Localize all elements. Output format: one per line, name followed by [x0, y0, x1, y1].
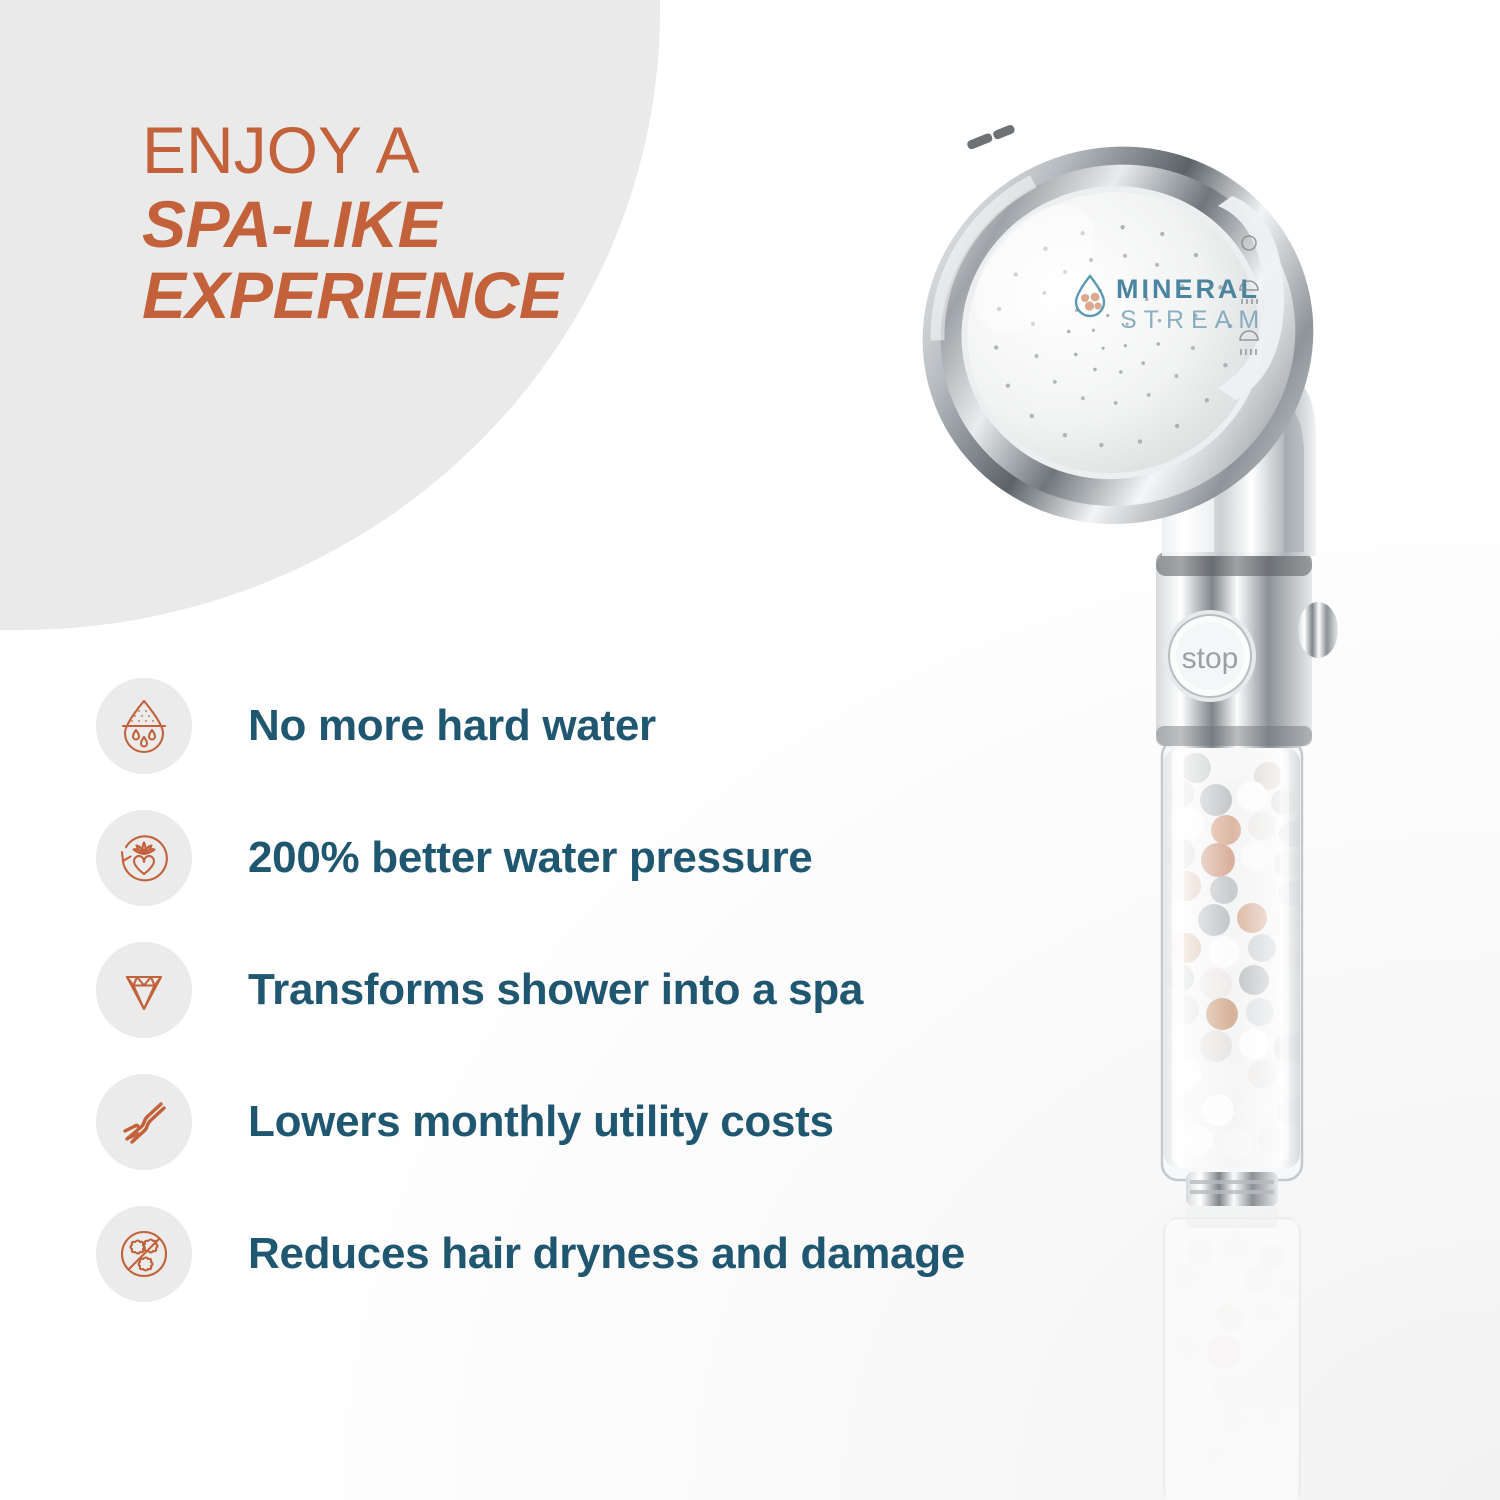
poster-canvas: ENJOY A SPA-LIKE EXPERIENCE: [0, 0, 1500, 1500]
list-item-label: Transforms shower into a spa: [248, 964, 863, 1015]
stop-button[interactable]: stop: [1164, 610, 1256, 702]
hose-connector: [1186, 1172, 1278, 1206]
product-reflection: [1164, 1206, 1304, 1500]
no-germs-icon: [96, 1206, 192, 1302]
headline-line-2: SPA-LIKE: [142, 192, 782, 257]
lotus-heart-refresh-icon: [96, 810, 192, 906]
list-item-label: 200% better water pressure: [248, 832, 812, 883]
brand-name-primary: MINERAL: [1116, 274, 1260, 304]
filter-chamber: [1162, 740, 1305, 1180]
headline-line-1: ENJOY A: [142, 118, 782, 183]
product-image-shower-head: stop: [880, 100, 1440, 1500]
control-collar: stop: [1156, 552, 1338, 748]
brand-name-secondary: STREAM: [1120, 306, 1266, 334]
headline-line-3: EXPERIENCE: [142, 263, 782, 328]
stop-button-label: stop: [1182, 642, 1239, 675]
head-clip-detail: [966, 124, 1016, 151]
diamond-icon: [96, 942, 192, 1038]
list-item-label: Lowers monthly utility costs: [248, 1096, 834, 1147]
knotted-hose-icon: [96, 1074, 192, 1170]
mineral-droplet-icon: [96, 678, 192, 774]
list-item-label: Reduces hair dryness and damage: [248, 1228, 965, 1279]
page-title: ENJOY A SPA-LIKE EXPERIENCE: [142, 118, 782, 328]
list-item-label: No more hard water: [248, 700, 656, 751]
